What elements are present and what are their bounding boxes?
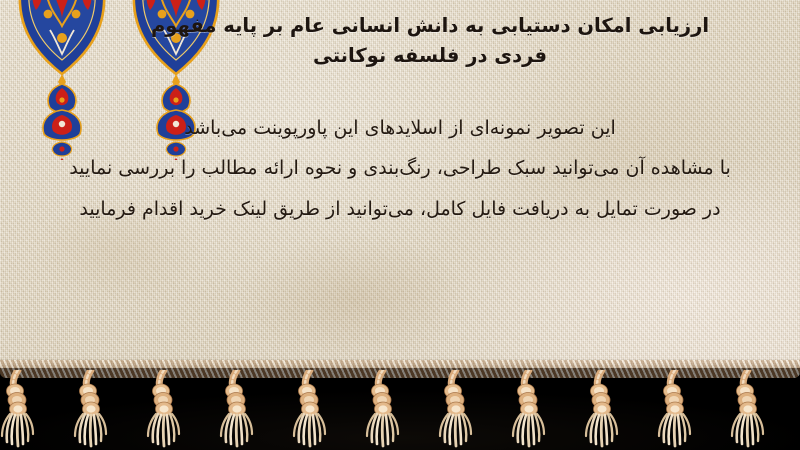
tassel-knot-icon: [357, 370, 409, 450]
tassel-knot-icon: [65, 370, 117, 450]
tassel-knot-icon: [284, 370, 336, 450]
slide-body-text: این تصویر نمونه‌ای از اسلایدهای این پاور…: [8, 108, 792, 229]
tassel-knot-icon: [138, 370, 190, 450]
slide-title-line-2: فردی در فلسفه نوکانتی: [60, 41, 800, 71]
tassel-knot-icon: [649, 370, 701, 450]
tassel-knot-icon: [0, 370, 44, 450]
slide-title-line-1: ارزیابی امکان دستیابی به دانش انسانی عام…: [60, 11, 800, 41]
tassel-knot-icon: [722, 370, 774, 450]
body-line-1: این تصویر نمونه‌ای از اسلایدهای این پاور…: [8, 108, 792, 148]
presentation-slide: ارزیابی امکان دستیابی به دانش انسانی عام…: [0, 0, 800, 450]
slide-text-layer: ارزیابی امکان دستیابی به دانش انسانی عام…: [0, 0, 800, 385]
body-line-3: در صورت تمایل به دریافت فایل کامل، می‌تو…: [8, 189, 792, 229]
tassel-knot-icon: [211, 370, 263, 450]
slide-title: ارزیابی امکان دستیابی به دانش انسانی عام…: [60, 11, 800, 71]
tassel-knot-icon: [503, 370, 555, 450]
tassel-knot-icon: [576, 370, 628, 450]
body-line-2: با مشاهده آن می‌توانید سبک طراحی، رنگ‌بن…: [8, 148, 792, 188]
tassel-knot-icon: [430, 370, 482, 450]
